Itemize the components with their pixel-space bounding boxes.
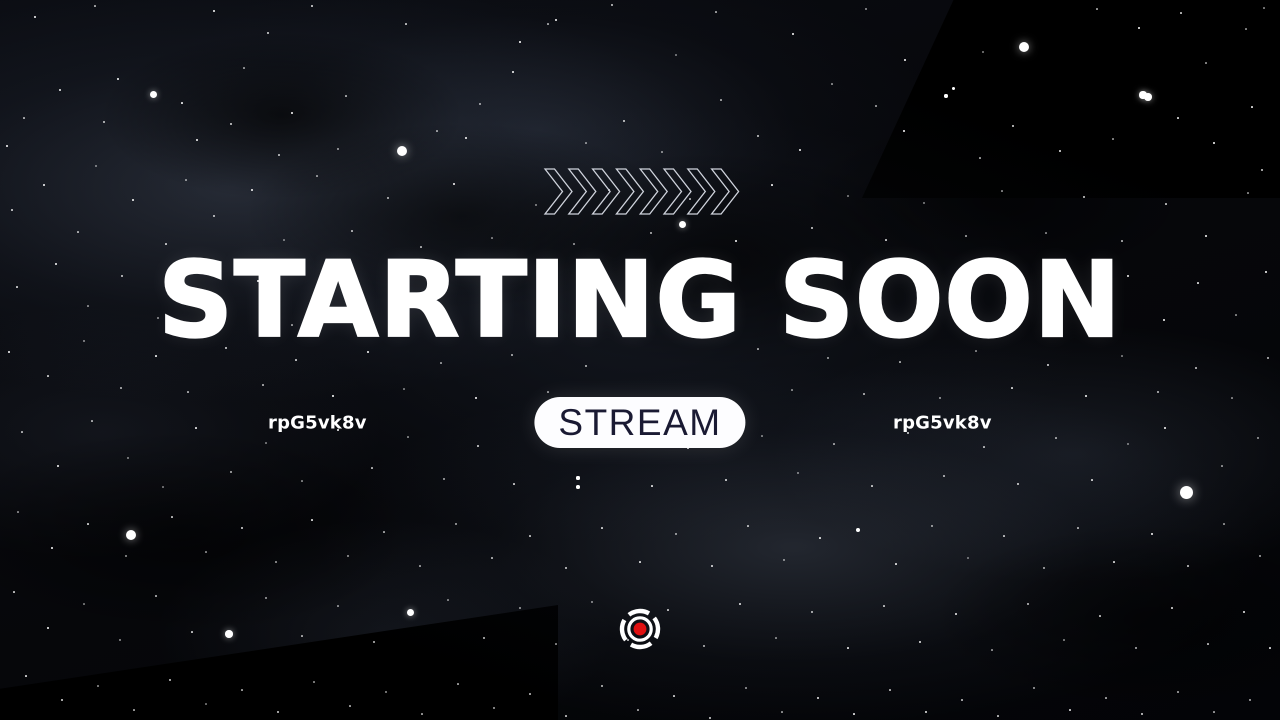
star (1249, 699, 1250, 700)
star (1063, 639, 1065, 641)
star (125, 555, 126, 556)
star (61, 699, 62, 700)
star (103, 121, 104, 122)
star (720, 99, 722, 101)
star (181, 102, 183, 104)
star (903, 130, 905, 132)
chevron-1 (545, 169, 572, 214)
star (51, 547, 53, 549)
chevron-2 (569, 169, 596, 214)
star (387, 197, 388, 198)
star (213, 10, 215, 12)
star (1151, 533, 1152, 534)
star (465, 137, 467, 139)
star (1099, 615, 1101, 617)
star (725, 479, 727, 481)
star (243, 67, 245, 69)
star (1180, 12, 1182, 14)
star (1207, 643, 1209, 645)
star (529, 535, 531, 537)
star (601, 685, 602, 686)
star (591, 601, 592, 602)
star (371, 467, 373, 469)
star (1138, 27, 1140, 29)
star (875, 105, 877, 107)
star (196, 139, 198, 141)
star (1157, 391, 1158, 392)
star (745, 687, 747, 689)
star (191, 631, 193, 633)
star (1059, 150, 1061, 152)
star (383, 531, 385, 533)
star (889, 689, 891, 691)
star (661, 151, 663, 153)
star (443, 478, 444, 479)
star (291, 112, 293, 114)
star (455, 523, 456, 524)
star (97, 685, 99, 687)
star (883, 605, 885, 607)
star (241, 527, 242, 528)
star (576, 485, 580, 489)
star (1187, 565, 1189, 567)
star (213, 215, 214, 216)
star (519, 41, 520, 42)
page-title: STARTING SOON (0, 248, 1280, 352)
star (351, 230, 353, 232)
star (1263, 7, 1265, 9)
star (611, 4, 612, 5)
star (703, 645, 704, 646)
star (34, 16, 36, 18)
star (1019, 42, 1029, 52)
star (715, 11, 717, 13)
star (262, 384, 264, 386)
star (847, 647, 849, 649)
star (1113, 561, 1115, 563)
star (576, 476, 579, 479)
star (1083, 196, 1084, 197)
star (797, 472, 798, 473)
code-and-badge-row: rpG5vk8v STREAM rpG5vk8v (0, 397, 1280, 449)
star (483, 637, 484, 638)
star (337, 148, 338, 149)
star (535, 204, 536, 205)
star (1171, 607, 1173, 609)
star (1205, 235, 1207, 237)
stream-standby-screen: STARTING SOON rpG5vk8v STREAM rpG5vk8v (0, 0, 1280, 720)
star (120, 387, 122, 389)
star (171, 516, 173, 518)
star (1243, 611, 1244, 612)
star (771, 184, 773, 186)
star (419, 565, 421, 567)
star (925, 711, 926, 712)
chevron-8 (712, 169, 739, 214)
star (277, 711, 278, 712)
star (447, 599, 449, 601)
star (1105, 697, 1107, 699)
star (673, 695, 675, 697)
star (853, 713, 855, 715)
star (385, 691, 386, 692)
star (407, 609, 414, 616)
star (230, 123, 231, 124)
stream-badge-label: STREAM (558, 404, 721, 441)
record-ring-segment-4 (629, 611, 649, 615)
star (991, 649, 993, 651)
star (747, 525, 749, 527)
star (856, 528, 860, 532)
star (555, 643, 557, 645)
star (757, 135, 758, 136)
star (863, 393, 865, 395)
star (952, 87, 955, 90)
star (47, 627, 49, 629)
star (651, 485, 653, 487)
star (265, 597, 266, 598)
star (1205, 62, 1207, 64)
star (1261, 169, 1262, 170)
star (711, 565, 713, 567)
star (967, 557, 969, 559)
star (547, 391, 549, 393)
record-ring-segment-2 (631, 643, 651, 647)
record-target-icon[interactable] (618, 607, 662, 651)
star (1165, 203, 1167, 205)
star (278, 154, 280, 156)
star (979, 157, 981, 159)
star (792, 33, 795, 36)
star (679, 221, 686, 228)
star (491, 557, 493, 559)
star (585, 365, 586, 366)
star (1001, 190, 1003, 192)
star (301, 480, 303, 482)
star (347, 555, 348, 556)
star (345, 95, 347, 97)
star (811, 611, 812, 612)
star (1096, 8, 1098, 10)
chevron-row-decoration (540, 166, 740, 220)
star (709, 717, 710, 718)
star (513, 483, 515, 485)
star (931, 525, 932, 526)
star (1043, 567, 1044, 568)
star (1267, 357, 1268, 358)
star (77, 231, 79, 233)
star (43, 184, 45, 186)
record-ring-segment-1 (654, 618, 658, 638)
star (267, 32, 268, 33)
star (547, 23, 549, 25)
star (1251, 106, 1253, 108)
star (585, 142, 587, 144)
star (904, 59, 906, 61)
star (982, 51, 984, 53)
star (311, 5, 313, 7)
star (436, 130, 438, 132)
star (6, 145, 8, 147)
star (316, 175, 318, 177)
star (17, 511, 19, 513)
star (440, 362, 442, 364)
star (519, 607, 521, 609)
star (831, 83, 833, 85)
star (405, 23, 407, 25)
star (739, 603, 741, 605)
star (799, 149, 801, 151)
star (667, 609, 669, 611)
star (565, 567, 566, 568)
star (783, 559, 784, 560)
star (895, 563, 897, 565)
star (1112, 138, 1114, 140)
star (871, 485, 873, 487)
star (529, 693, 531, 695)
chevron-6 (664, 169, 691, 214)
star (1047, 364, 1048, 365)
star (150, 91, 157, 98)
star (301, 635, 303, 637)
star (23, 117, 25, 119)
star (187, 391, 189, 393)
star (94, 5, 96, 7)
star (919, 641, 920, 642)
star (1195, 367, 1197, 369)
star (1177, 117, 1179, 119)
star (955, 613, 957, 615)
stream-code-right: rpG5vk8v (893, 413, 992, 434)
star (791, 389, 793, 391)
chevron-4 (616, 169, 643, 214)
star (601, 527, 603, 529)
star (775, 637, 777, 639)
star (57, 465, 59, 467)
star (337, 605, 339, 607)
star (225, 630, 233, 638)
stream-badge[interactable]: STREAM (534, 397, 745, 448)
star (313, 681, 315, 683)
star (373, 641, 374, 642)
star (555, 19, 557, 21)
star (87, 523, 89, 525)
star (1213, 711, 1215, 713)
star (11, 209, 13, 211)
chevron-7 (688, 169, 715, 214)
star (169, 679, 170, 680)
star (944, 94, 947, 97)
star (349, 705, 351, 707)
star (493, 707, 494, 708)
star (1027, 603, 1028, 604)
star (1012, 125, 1013, 126)
star (185, 179, 187, 181)
star (965, 235, 967, 237)
star (865, 8, 866, 9)
star (205, 703, 207, 705)
star (923, 202, 924, 203)
star (781, 711, 783, 713)
star (650, 232, 651, 233)
star (127, 457, 128, 458)
chevron-5 (640, 169, 667, 214)
star (479, 103, 480, 104)
star (1091, 479, 1093, 481)
star (1213, 142, 1215, 144)
star (155, 355, 157, 357)
star (241, 689, 243, 691)
star (421, 713, 423, 715)
star (1033, 687, 1034, 688)
star (95, 165, 96, 166)
star (1223, 523, 1225, 525)
star (230, 471, 231, 472)
star (1180, 486, 1193, 499)
star (1141, 713, 1142, 714)
star (817, 697, 818, 698)
star (1003, 535, 1005, 537)
star (1221, 465, 1223, 467)
star (623, 120, 624, 121)
star (997, 715, 999, 717)
star (1077, 527, 1079, 529)
star (275, 561, 277, 563)
star (117, 78, 120, 81)
star (899, 361, 901, 363)
stream-code-left: rpG5vk8v (268, 413, 367, 434)
star (1069, 709, 1071, 711)
star (1245, 28, 1247, 30)
star (457, 683, 459, 685)
record-ring-segment-3 (622, 620, 626, 640)
star (961, 699, 963, 701)
star (1139, 91, 1146, 98)
star (251, 189, 253, 191)
star (1177, 691, 1179, 693)
star (162, 486, 164, 488)
star (819, 537, 821, 539)
star (1011, 387, 1013, 389)
star (13, 591, 15, 593)
star (1045, 232, 1047, 234)
star (83, 603, 85, 605)
star (637, 709, 639, 711)
star (1017, 483, 1018, 484)
star (133, 709, 135, 711)
star (1259, 555, 1260, 556)
star (311, 519, 313, 521)
star (675, 533, 676, 534)
star (126, 530, 136, 540)
star (119, 639, 120, 640)
star (1135, 647, 1136, 648)
star (205, 551, 207, 553)
star (943, 475, 945, 477)
star (453, 183, 455, 185)
star (397, 146, 408, 157)
star (675, 54, 677, 56)
star (403, 388, 405, 390)
star (565, 715, 567, 717)
star (512, 71, 515, 74)
star (25, 675, 27, 677)
star (847, 195, 849, 197)
star (1247, 192, 1249, 194)
star (155, 595, 157, 597)
star (811, 227, 812, 228)
star (132, 199, 135, 202)
star (47, 375, 49, 377)
star (59, 89, 60, 90)
star (1269, 647, 1271, 649)
star (639, 561, 641, 563)
chevron-3 (593, 169, 620, 214)
